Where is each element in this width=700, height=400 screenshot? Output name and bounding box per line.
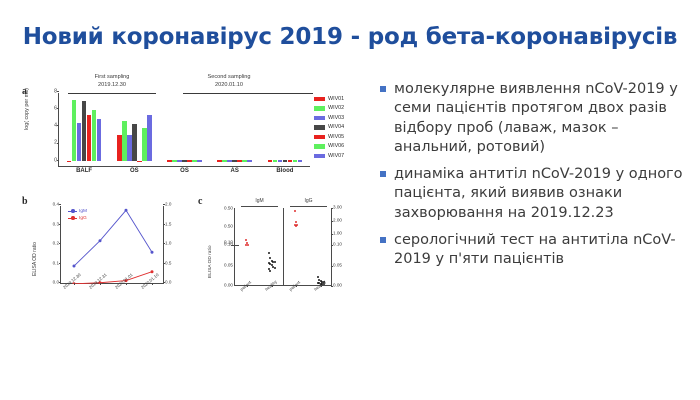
panel-b-y-tickmark-right xyxy=(163,204,165,205)
panel-a-legend-item: WIV01 xyxy=(314,94,344,104)
panel-b-y-tick-right: 2.0 xyxy=(165,203,171,208)
panel-a-bar-group: BALF xyxy=(59,93,109,166)
panel-c-y-axis-label: ELISA OD ratio xyxy=(208,245,213,278)
panel-a-second-sampling-header: Second sampling 2020.01.10 xyxy=(180,74,278,89)
panel-a-bar xyxy=(278,160,283,162)
panel-c-y-tickmark-right xyxy=(331,245,333,246)
panel-a-legend-swatch xyxy=(314,116,325,121)
panel-c-plot-area: 0.000.050.100.100.500.500.000.050.101.00… xyxy=(234,208,332,286)
panel-a-bar xyxy=(97,119,102,161)
panel-b-y-tickmark-left xyxy=(59,263,61,264)
panel-a-legend-label: WIV03 xyxy=(328,115,344,121)
panel-a-bar xyxy=(217,160,222,162)
panel-a-bar xyxy=(283,160,288,162)
panel-b: b ELISA OD ratio 0.00.10.20.30.40.00.51.… xyxy=(18,194,193,334)
panel-c-group-header: IgG xyxy=(284,198,333,204)
panel-a-legend-swatch xyxy=(314,125,325,130)
panel-a-bar xyxy=(167,160,172,162)
bullet-text: серологічний тест на антитіла nCoV-2019 … xyxy=(394,231,690,270)
panel-c-data-point xyxy=(269,270,271,272)
panel-a-legend-label: WIV01 xyxy=(328,96,344,102)
panel-c-x-tickmark xyxy=(272,285,273,287)
panel-c-y-tick-left: 0.50 xyxy=(224,207,233,212)
panel-a-bar xyxy=(222,160,227,162)
panel-a-bar xyxy=(142,128,147,161)
second-sampling-label: Second sampling xyxy=(180,74,278,82)
panel-a-bar xyxy=(137,161,142,163)
panel-c-y-tick-right: 0.10 xyxy=(333,243,342,248)
panel-c-x-tick-label: healthy xyxy=(264,279,278,292)
panel-a-y-axis-label: log( copy per mL) xyxy=(24,88,30,130)
panel-c-data-point xyxy=(323,283,325,285)
panel-a-legend: WIV01WIV02WIV03WIV04WIV05WIV06WIV07 xyxy=(314,94,344,161)
bullet-list: молекулярне виявлення nCoV-2019 у семи п… xyxy=(380,80,690,278)
figure-image: a First sampling 2019.12.30 Second sampl… xyxy=(18,72,366,334)
panel-a-bar xyxy=(187,160,192,162)
panel-b-data-point xyxy=(151,251,154,254)
panel-a-y-tickmark xyxy=(57,143,59,144)
panel-b-y-tickmark-left xyxy=(59,224,61,225)
panel-a-legend-label: WIV02 xyxy=(328,105,344,111)
panel-b-x-tickmark xyxy=(100,283,101,285)
panel-b-line xyxy=(74,272,152,284)
panel-a-legend-item: WIV05 xyxy=(314,132,344,142)
panel-a-y-tickmark xyxy=(57,108,59,109)
panel-a-bar-group: AS xyxy=(210,93,260,166)
panel-a-x-tick-label: BALF xyxy=(76,168,92,174)
panel-a-bar xyxy=(273,160,278,162)
panel-a-bar xyxy=(268,160,273,162)
panel-a-y-tickmark xyxy=(57,160,59,161)
panel-b-y-tickmark-right xyxy=(163,282,165,283)
panel-c-x-tickmark xyxy=(321,285,322,287)
panel-a-bar xyxy=(127,135,132,161)
panel-c-group-header: IgM xyxy=(235,198,284,204)
panel-b-y-tick-right: 1.5 xyxy=(165,222,171,227)
panel-c-data-point xyxy=(268,252,270,254)
panel-a-legend-label: WIV07 xyxy=(328,153,344,159)
bullet-text: молекулярне виявлення nCoV-2019 у семи п… xyxy=(394,80,690,157)
panel-a-bar xyxy=(67,161,72,163)
panel-c-y-tick-right: 3.00 xyxy=(333,206,342,211)
panel-a-legend-item: WIV06 xyxy=(314,142,344,152)
panel-a-bar xyxy=(182,160,187,162)
panel-a-bar xyxy=(298,160,303,162)
second-sampling-date: 2020.01.10 xyxy=(180,82,278,90)
panel-a-bar xyxy=(77,123,82,161)
panel-a-legend-item: WIV02 xyxy=(314,104,344,114)
panel-b-data-point xyxy=(125,209,128,212)
first-sampling-label: First sampling xyxy=(66,74,158,82)
panel-a-x-tick-label: Blood xyxy=(276,168,293,174)
panel-a-y-tickmark xyxy=(57,125,59,126)
panel-a-bar xyxy=(293,160,298,162)
bullet-square-icon xyxy=(380,237,386,243)
panel-a-bar xyxy=(242,160,247,162)
panel-c-x-tick-label: patient xyxy=(239,280,252,292)
panel-c-x-tickmark xyxy=(296,285,297,287)
panel-a-x-tick-label: OS xyxy=(180,168,189,174)
panel-a-bar xyxy=(288,160,293,162)
panel-b-legend-item: IgM xyxy=(68,208,87,215)
panel-c-data-point xyxy=(245,244,247,246)
panel-b-legend-marker xyxy=(68,211,77,213)
panel-c-y-tickmark-right xyxy=(331,266,333,267)
panel-c-x-tick-label: patient xyxy=(288,280,301,292)
panel-c-data-point xyxy=(295,225,297,227)
panel-a-plot-area: BALFOSOSASBlood 02468 xyxy=(58,93,310,167)
panel-b-legend-label: IgG xyxy=(79,216,87,221)
panel-a-first-sampling-header: First sampling 2019.12.30 xyxy=(66,74,158,89)
panel-a-x-tick-label: AS xyxy=(231,168,239,174)
panel-a-bar xyxy=(87,115,92,161)
bullet-item: молекулярне виявлення nCoV-2019 у семи п… xyxy=(380,80,690,157)
bullet-item: серологічний тест на антитіла nCoV-2019 … xyxy=(380,231,690,270)
panel-a-bar xyxy=(117,135,122,161)
panel-a-legend-label: WIV04 xyxy=(328,124,344,130)
panel-a-bar-group: OS xyxy=(109,93,159,166)
panel-c: c ELISA OD ratio 0.000.050.100.100.500.5… xyxy=(196,194,366,334)
panel-a-legend-swatch xyxy=(314,135,325,140)
panel-b-y-tickmark-right xyxy=(163,224,165,225)
panel-b-y-tick-right: 0.5 xyxy=(165,261,171,266)
panel-c-y-tick-left: 0.50 xyxy=(224,225,233,230)
bullet-item: динаміка антитіл nCoV-2019 у одного паці… xyxy=(380,165,690,223)
panel-b-data-point xyxy=(151,270,154,273)
panel-c-x-tickmark xyxy=(247,285,248,287)
panel-a-x-tick-label: OS xyxy=(130,168,139,174)
panel-a-bar xyxy=(72,100,77,161)
panel-c-y-tickmark-right xyxy=(331,221,333,222)
panel-a-bar xyxy=(172,160,177,162)
panel-b-x-tickmark xyxy=(74,283,75,285)
panel-c-y-tickmark-right xyxy=(331,208,333,209)
panel-c-y-tick-left: 0.05 xyxy=(224,263,233,268)
panel-a-bar xyxy=(197,160,202,162)
panel-a-bar xyxy=(232,160,237,162)
panel-b-y-tick-right: 0.0 xyxy=(165,281,171,286)
panel-a-bar xyxy=(132,124,137,161)
page-title: Новий коронавірус 2019 - род бета-корона… xyxy=(0,24,700,50)
panel-a-bar xyxy=(247,160,252,162)
panel-b-legend-item: IgG xyxy=(68,215,87,222)
panel-a-bar xyxy=(177,160,182,162)
panel-c-group-rule xyxy=(241,206,278,207)
panel-c-y-tick-right: 0.05 xyxy=(333,263,342,268)
panel-a-legend-swatch xyxy=(314,144,325,149)
panel-b-x-tickmark xyxy=(126,283,127,285)
panel-b-legend: IgMIgG xyxy=(68,208,87,222)
panel-c-mid-divider xyxy=(283,208,284,285)
panel-c-data-point xyxy=(274,267,276,269)
panel-c-data-point xyxy=(274,261,276,263)
panel-b-y-tickmark-left xyxy=(59,243,61,244)
panel-a-bar xyxy=(237,160,242,162)
panel-a-bar xyxy=(82,101,87,161)
panel-a-bar-group: Blood xyxy=(260,93,310,166)
panel-a-legend-item: WIV07 xyxy=(314,151,344,161)
first-sampling-date: 2019.12.30 xyxy=(66,82,158,90)
panel-a-bar xyxy=(192,160,197,162)
bullet-text: динаміка антитіл nCoV-2019 у одного паці… xyxy=(394,165,690,223)
panel-b-y-tickmark-left xyxy=(59,282,61,283)
panel-a-bar xyxy=(92,110,97,161)
panel-c-axis-break xyxy=(231,245,239,246)
panel-b-letter: b xyxy=(22,196,28,207)
bullet-square-icon xyxy=(380,171,386,177)
bullet-square-icon xyxy=(380,86,386,92)
panel-c-data-point xyxy=(294,210,296,212)
panel-a-legend-label: WIV05 xyxy=(328,134,344,140)
panel-c-y-tick-right: 2.00 xyxy=(333,219,342,224)
panel-a-bar xyxy=(227,160,232,162)
panel-a-legend-item: WIV03 xyxy=(314,113,344,123)
panel-c-group-rule xyxy=(290,206,327,207)
panel-c-y-tick-right: 0.00 xyxy=(333,284,342,289)
panel-a-legend-swatch xyxy=(314,106,325,111)
panel-b-legend-label: IgM xyxy=(79,209,87,214)
panel-c-letter: c xyxy=(198,196,202,207)
panel-c-y-tickmark-right xyxy=(331,286,333,287)
panel-c-data-point xyxy=(247,244,249,246)
panel-c-y-tickmark-right xyxy=(331,234,333,235)
panel-b-y-tickmark-right xyxy=(163,243,165,244)
panel-a-bar-group: OS xyxy=(159,93,209,166)
panel-a-bar xyxy=(122,121,127,161)
panel-a-legend-label: WIV06 xyxy=(328,143,344,149)
panel-c-y-tick-right: 1.00 xyxy=(333,232,342,237)
panel-a-legend-swatch xyxy=(314,154,325,159)
panel-b-y-tickmark-left xyxy=(59,204,61,205)
panel-c-y-tick-left: 0.00 xyxy=(224,284,233,289)
panel-b-y-tick-right: 1.0 xyxy=(165,242,171,247)
panel-a-bar-groups: BALFOSOSASBlood xyxy=(59,93,310,166)
panel-b-y-tickmark-right xyxy=(163,263,165,264)
panel-a-legend-swatch xyxy=(314,97,325,102)
panel-b-y-axis-label: ELISA OD ratio xyxy=(32,242,38,276)
panel-b-data-point xyxy=(73,265,76,268)
panel-c-data-point xyxy=(295,221,297,223)
panel-a: a First sampling 2019.12.30 Second sampl… xyxy=(18,72,366,190)
panel-b-legend-marker xyxy=(68,218,77,220)
panel-b-x-tickmark xyxy=(152,283,153,285)
panel-b-data-point xyxy=(99,239,102,242)
panel-a-bar xyxy=(147,115,152,161)
panel-a-y-tickmark xyxy=(57,91,59,92)
panel-a-legend-item: WIV04 xyxy=(314,123,344,133)
